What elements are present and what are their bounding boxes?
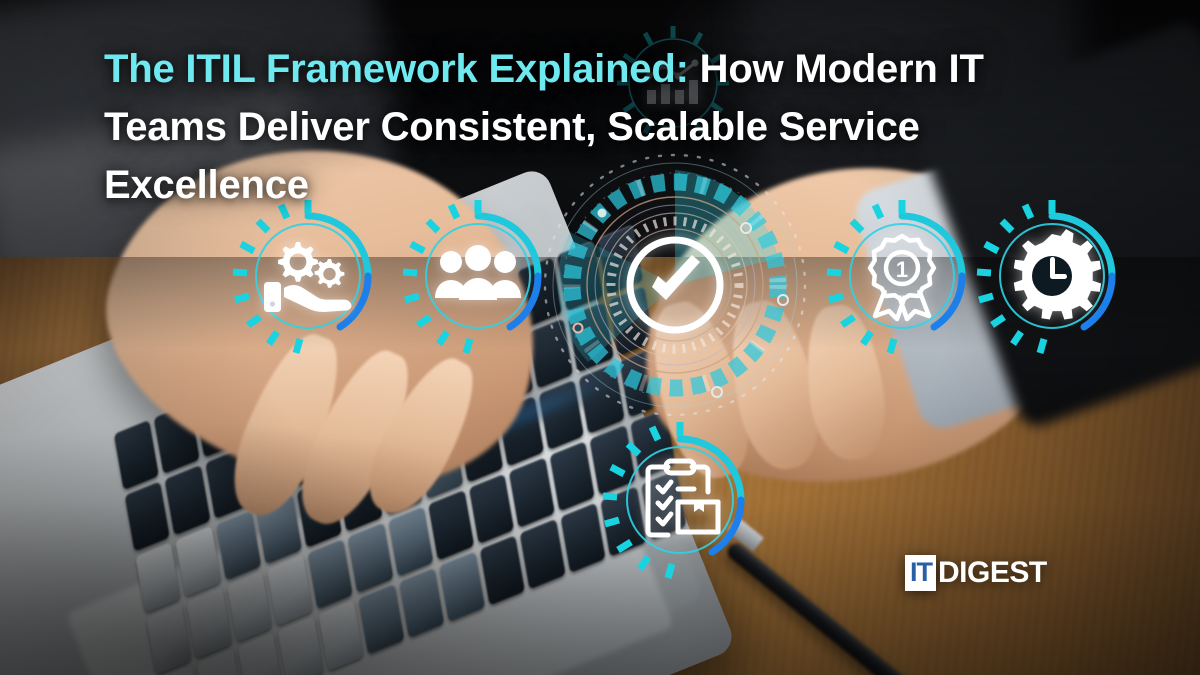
logo-word-digest: DIGEST [938, 558, 1047, 588]
svg-text:1: 1 [896, 257, 908, 282]
hud-node-certification: 1 [822, 196, 982, 356]
clipboard-checklist-box-icon [598, 418, 762, 582]
hud-node-service-delivery [228, 196, 388, 356]
award-ribbon-icon: 1 [822, 196, 982, 356]
title-highlight: The ITIL Framework Explained: [104, 47, 689, 91]
banner-image: 1 [0, 0, 1200, 675]
hud-node-checklist-assets [598, 418, 762, 582]
hand-holding-gears-icon [228, 196, 388, 356]
logo-mark-it: IT [905, 555, 936, 591]
gear-clock-icon [972, 196, 1132, 356]
page-title: The ITIL Framework Explained: How Modern… [104, 40, 1064, 214]
hud-node-people-teams [398, 196, 558, 356]
itdigest-logo[interactable]: IT DIGEST [905, 555, 1047, 591]
users-group-icon [398, 196, 558, 356]
hud-node-time-management [972, 196, 1132, 356]
